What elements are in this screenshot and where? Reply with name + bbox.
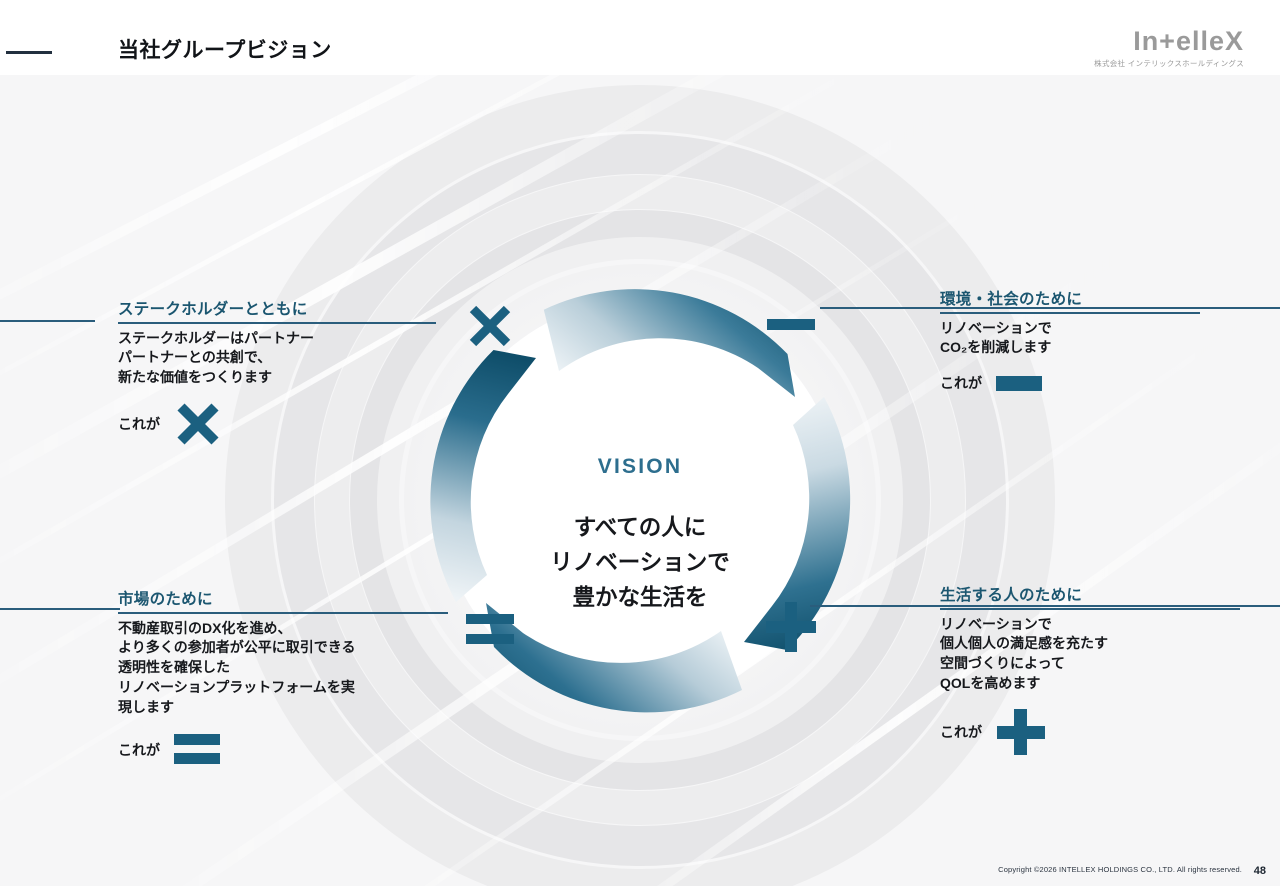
body-line: 新たな価値をつくります (118, 368, 436, 388)
kore-row: これが (118, 402, 436, 446)
body-line: リノベーションで (940, 319, 1200, 339)
page-title: 当社グループビジョン (118, 34, 332, 64)
slide-root: 当社グループビジョン In+elleX 株式会社 インテリックスホールディングス (0, 0, 1280, 886)
header-accent-dash (6, 51, 52, 54)
minus-symbol-on-ring (765, 313, 817, 342)
minus-symbol-icon (996, 372, 1044, 394)
slide-footer: Copyright ©2026 INTELLEX HOLDINGS CO., L… (0, 850, 1280, 886)
vision-center-text: VISION すべての人に リノベーションで 豊かな生活を (465, 455, 815, 616)
quadrant-heading: ステークホルダーとともに (118, 297, 436, 319)
body-line: ステークホルダーはパートナー (118, 329, 436, 349)
connector-line-bottom-left (0, 608, 120, 610)
kore-row: これが (118, 732, 448, 768)
kore-row: これが (940, 708, 1240, 756)
body-line: CO₂を削減します (940, 338, 1200, 358)
body-line: パートナーとの共創で、 (118, 348, 436, 368)
quadrant-bottom-left: 市場のために 不動産取引のDX化を進め、 より多くの参加者が公平に取引できる 透… (118, 587, 448, 768)
kore-label: これが (118, 740, 160, 760)
logo-wordmark: In+elleX (1094, 28, 1244, 55)
body-line: 現します (118, 698, 448, 718)
logo-subtitle: 株式会社 インテリックスホールディングス (1094, 58, 1244, 69)
plus-symbol-icon (996, 708, 1046, 756)
body-line: より多くの参加者が公平に取引できる (118, 638, 448, 658)
heading-underline (118, 612, 448, 614)
multiply-symbol-on-ring (466, 302, 514, 355)
body-line: 空間づくりによって (940, 654, 1240, 674)
kore-label: これが (940, 722, 982, 742)
multiply-symbol-icon (174, 402, 222, 446)
equals-symbol-on-ring (464, 609, 516, 654)
quadrant-body: ステークホルダーはパートナー パートナーとの共創で、 新たな価値をつくります (118, 329, 436, 389)
heading-underline (940, 608, 1240, 610)
quadrant-body: リノベーションで 個人個人の満足感を充たす 空間づくりによって QOLを高めます (940, 615, 1240, 695)
kore-label: これが (940, 373, 982, 393)
connector-line-top-left (0, 320, 95, 322)
quadrant-body: リノベーションで CO₂を削減します (940, 319, 1200, 359)
company-logo: In+elleX 株式会社 インテリックスホールディングス (1094, 28, 1244, 69)
body-line: 不動産取引のDX化を進め、 (118, 619, 448, 639)
quadrant-body: 不動産取引のDX化を進め、 より多くの参加者が公平に取引できる 透明性を確保した… (118, 619, 448, 718)
vision-line: すべての人に (465, 511, 815, 546)
quadrant-top-left: ステークホルダーとともに ステークホルダーはパートナー パートナーとの共創で、 … (118, 297, 436, 446)
quadrant-heading: 環境・社会のために (940, 287, 1200, 309)
equals-symbol-icon (174, 732, 222, 768)
body-line: 個人個人の満足感を充たす (940, 634, 1240, 654)
copyright-text: Copyright ©2026 INTELLEX HOLDINGS CO., L… (998, 865, 1242, 874)
page-number: 48 (1254, 865, 1266, 877)
slide-header: 当社グループビジョン In+elleX 株式会社 インテリックスホールディングス (0, 0, 1280, 75)
quadrant-top-right: 環境・社会のために リノベーションで CO₂を削減します これが (940, 287, 1200, 394)
vision-label: VISION (465, 455, 815, 479)
body-line: 透明性を確保した (118, 658, 448, 678)
slide-body: VISION すべての人に リノベーションで 豊かな生活を (0, 75, 1280, 886)
body-line: QOLを高めます (940, 674, 1240, 694)
kore-row: これが (940, 372, 1200, 394)
quadrant-heading: 市場のために (118, 587, 448, 609)
body-line: リノベーションで (940, 615, 1240, 635)
heading-underline (118, 322, 436, 324)
quadrant-heading: 生活する人のために (940, 583, 1240, 605)
vision-line: リノベーションで (465, 546, 815, 581)
kore-label: これが (118, 414, 160, 434)
heading-underline (940, 312, 1200, 314)
quadrant-bottom-right: 生活する人のために リノベーションで 個人個人の満足感を充たす 空間づくりによっ… (940, 583, 1240, 756)
body-line: リノベーションプラットフォームを実 (118, 678, 448, 698)
plus-symbol-on-ring (763, 599, 819, 660)
